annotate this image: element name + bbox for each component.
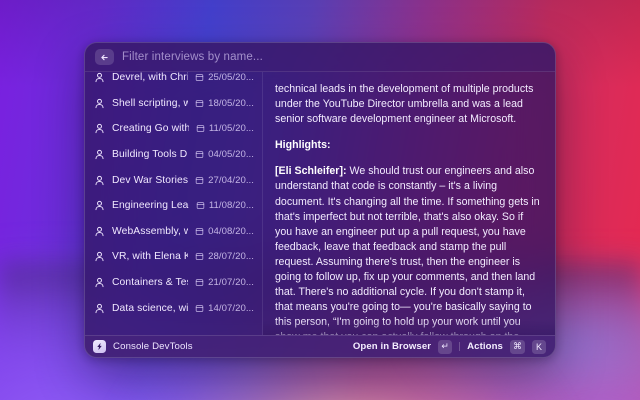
detail-spacer-1: [275, 127, 541, 138]
list-item[interactable]: Engineering Lead...11/08/20...: [85, 193, 262, 219]
person-icon: [94, 277, 105, 288]
footer-bar: Console DevTools Open in Browser ↵ Actio…: [85, 335, 555, 357]
interview-detail-panel[interactable]: technical leads in the development of mu…: [263, 72, 555, 335]
detail-quote-speaker: [Eli Schleifer]:: [275, 165, 347, 177]
back-button[interactable]: [95, 49, 114, 65]
list-item-date-group: 21/07/20...: [195, 277, 254, 288]
calendar-icon: [195, 150, 204, 159]
detail-quote-body: We should trust our engineers and also u…: [275, 165, 540, 335]
list-item-date: 27/04/20...: [208, 175, 254, 186]
calendar-icon: [195, 278, 204, 287]
person-icon: [94, 226, 105, 237]
list-item[interactable]: Containers & Test...21/07/20...: [85, 270, 262, 296]
interview-list-rows: Devrel, with Chri...25/05/20...Shell scr…: [85, 72, 262, 321]
list-item-date: 11/08/20...: [209, 200, 254, 211]
app-name-label: Console DevTools: [113, 341, 193, 352]
command-key-badge[interactable]: ⌘: [510, 340, 525, 354]
list-item-date-group: 14/07/20...: [195, 303, 254, 314]
list-item-title: Shell scripting, wi...: [112, 98, 188, 109]
list-item-title: Building Tools D...: [112, 149, 188, 160]
list-item[interactable]: Data science, wit...14/07/20...: [85, 295, 262, 321]
calendar-icon: [195, 304, 204, 313]
list-item[interactable]: Shell scripting, wi...18/05/20...: [85, 91, 262, 117]
list-item-date: 18/05/20...: [208, 98, 254, 109]
search-bar: [85, 43, 555, 72]
list-item-title: Creating Go with...: [112, 123, 189, 134]
list-item-title: Dev War Stories,...: [112, 175, 188, 186]
person-icon: [94, 251, 105, 262]
detail-intro-paragraph: technical leads in the development of mu…: [275, 82, 541, 127]
list-item[interactable]: VR, with Elena K...28/07/20...: [85, 244, 262, 270]
actions-button[interactable]: Actions: [467, 341, 503, 352]
footer-divider: [459, 342, 460, 351]
list-item-title: VR, with Elena K...: [112, 251, 188, 262]
person-icon: [94, 98, 105, 109]
list-item-date-group: 28/07/20...: [195, 251, 254, 262]
list-item-date: 11/05/20...: [209, 123, 254, 134]
window-body: Devrel, with Chri...25/05/20...Shell scr…: [85, 72, 555, 335]
detail-spacer-2: [275, 153, 541, 164]
list-item-date-group: 04/08/20...: [195, 226, 254, 237]
launcher-window: Devrel, with Chri...25/05/20...Shell scr…: [84, 42, 556, 358]
person-icon: [94, 149, 105, 160]
app-logo-icon: [93, 340, 106, 353]
list-item-date-group: 18/05/20...: [195, 98, 254, 109]
calendar-icon: [195, 73, 204, 82]
person-icon: [94, 123, 105, 134]
person-icon: [94, 72, 105, 83]
calendar-icon: [196, 201, 205, 210]
search-input[interactable]: [122, 51, 545, 63]
list-item[interactable]: Devrel, with Chri...25/05/20...: [85, 72, 262, 91]
list-item-date: 25/05/20...: [208, 72, 254, 83]
list-item[interactable]: WebAssembly, w...04/08/20...: [85, 219, 262, 245]
list-item[interactable]: Dev War Stories,...27/04/20...: [85, 167, 262, 193]
list-item-date: 28/07/20...: [208, 251, 254, 262]
open-in-browser-button[interactable]: Open in Browser: [353, 341, 431, 352]
list-item-date-group: 27/04/20...: [195, 175, 254, 186]
list-item-date: 04/08/20...: [208, 226, 254, 237]
detail-quote-paragraph: [Eli Schleifer]: We should trust our eng…: [275, 164, 541, 335]
calendar-icon: [195, 99, 204, 108]
person-icon: [94, 175, 105, 186]
list-item-date-group: 11/08/20...: [196, 200, 254, 211]
list-item-date: 14/07/20...: [208, 303, 254, 314]
list-item[interactable]: Creating Go with...11/05/20...: [85, 116, 262, 142]
list-item-title: Engineering Lead...: [112, 200, 189, 211]
list-item-title: WebAssembly, w...: [112, 226, 188, 237]
calendar-icon: [196, 124, 205, 133]
person-icon: [94, 200, 105, 211]
detail-highlights-heading: Highlights:: [275, 138, 541, 153]
k-key-badge[interactable]: K: [532, 340, 546, 354]
list-item-date-group: 25/05/20...: [195, 72, 254, 83]
list-item-title: Devrel, with Chri...: [112, 72, 188, 83]
arrow-left-icon: [100, 53, 109, 62]
interview-list[interactable]: Devrel, with Chri...25/05/20...Shell scr…: [85, 72, 263, 335]
list-item-date-group: 11/05/20...: [196, 123, 254, 134]
enter-key-badge[interactable]: ↵: [438, 340, 452, 354]
list-item[interactable]: Building Tools D...04/05/20...: [85, 142, 262, 168]
list-item-date: 04/05/20...: [208, 149, 254, 160]
calendar-icon: [195, 227, 204, 236]
list-item-date-group: 04/05/20...: [195, 149, 254, 160]
calendar-icon: [195, 252, 204, 261]
list-item-title: Data science, wit...: [112, 303, 188, 314]
person-icon: [94, 303, 105, 314]
list-item-date: 21/07/20...: [208, 277, 254, 288]
calendar-icon: [195, 176, 204, 185]
list-item-title: Containers & Test...: [112, 277, 188, 288]
